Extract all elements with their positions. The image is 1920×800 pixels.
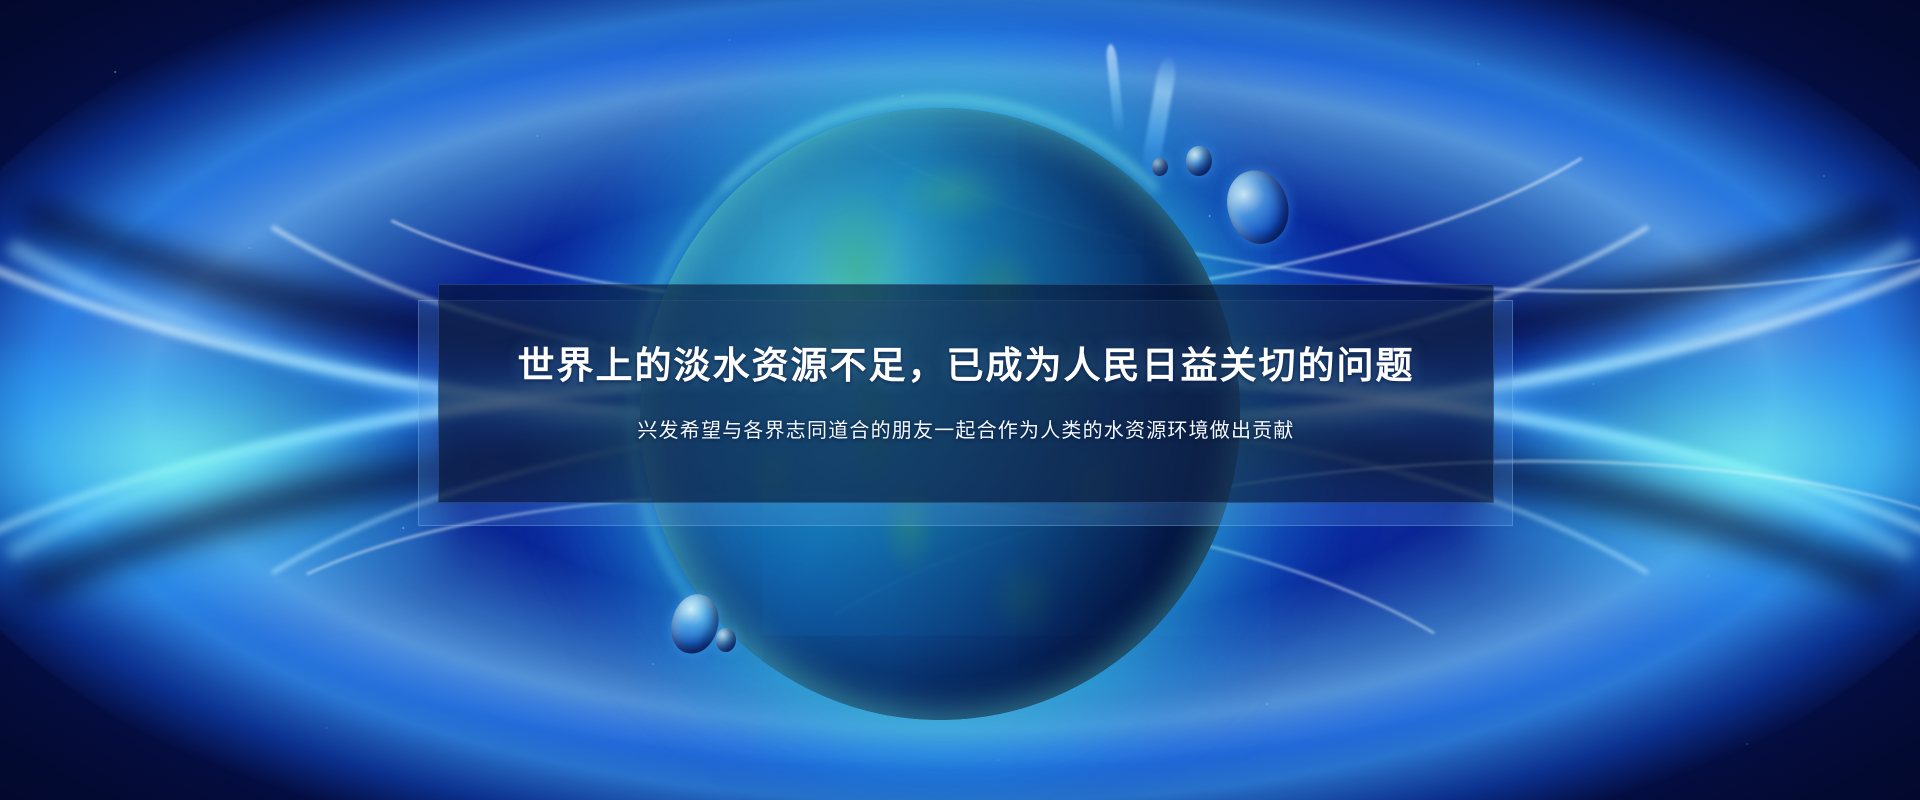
banner-copy: 世界上的淡水资源不足，已成为人民日益关切的问题 兴发希望与各界志同道合的朋友一起…	[438, 284, 1494, 503]
water-droplet-mid-right	[1186, 146, 1212, 176]
water-droplet-small-right	[1152, 158, 1168, 176]
water-droplet-small-left	[716, 628, 736, 652]
banner-headline: 世界上的淡水资源不足，已成为人民日益关切的问题	[518, 344, 1415, 388]
banner-subline: 兴发希望与各界志同道合的朋友一起合作为人类的水资源环境做出贡献	[637, 419, 1294, 443]
banner-stage: 世界上的淡水资源不足，已成为人民日益关切的问题 兴发希望与各界志同道合的朋友一起…	[0, 0, 1920, 800]
